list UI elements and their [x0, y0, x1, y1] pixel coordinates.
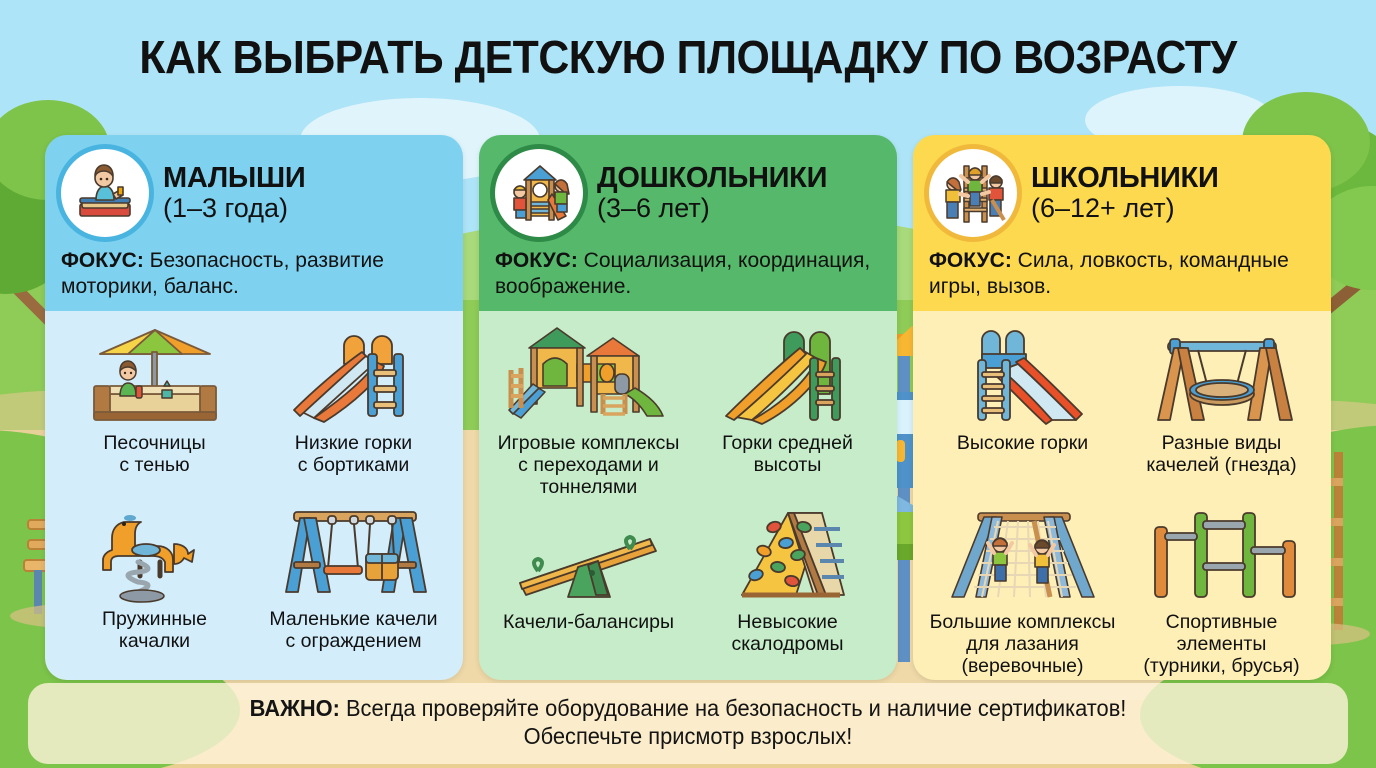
- pull-up-bars-icon: [1137, 502, 1307, 607]
- card-preschoolers-focus-label: ФОКУС:: [495, 249, 578, 272]
- low-slide-icon: [284, 323, 424, 428]
- item-pull-up-bars-caption: Спортивные элементы (турники, брусья): [1143, 611, 1299, 677]
- card-preschoolers-focus: ФОКУС: Социализация, координация, вообра…: [495, 248, 881, 299]
- important-note-banner: ВАЖНО: Всегда проверяйте оборудование на…: [28, 683, 1348, 764]
- card-schoolkids-focus-label: ФОКУС:: [929, 249, 1012, 272]
- schoolkids-on-ladder-icon: [929, 149, 1017, 237]
- card-toddlers[interactable]: МАЛЫШИ (1–3 года) ФОКУС: Безопасность, р…: [45, 135, 463, 680]
- card-schoolkids-header: ШКОЛЬНИКИ (6–12+ лет) ФОКУС: Сила, ловко…: [913, 135, 1331, 311]
- nest-swing-icon: [1142, 323, 1302, 428]
- item-climbing-wall[interactable]: Невысокие скалодромы: [688, 498, 887, 677]
- important-note-text: Всегда проверяйте оборудование на безопа…: [340, 695, 1126, 721]
- preschoolers-on-playhouse-icon: [495, 149, 583, 237]
- item-tall-slide[interactable]: Высокие горки: [923, 319, 1122, 498]
- item-baby-swing-set[interactable]: Маленькие качели с ограждением: [254, 495, 453, 670]
- card-preschoolers-items: Игровые комплексы с переходами и тоннеля…: [479, 311, 897, 680]
- item-tall-slide-caption: Высокие горки: [957, 432, 1088, 454]
- item-rope-climbing-net[interactable]: Большие комплексы для лазания (веревочны…: [923, 498, 1122, 677]
- item-nest-swing-caption: Разные виды качелей (гнезда): [1146, 432, 1296, 476]
- item-pull-up-bars[interactable]: Спортивные элементы (турники, брусья): [1122, 498, 1321, 677]
- item-sandbox-with-umbrella[interactable]: Песочницы с тенью: [55, 319, 254, 494]
- card-preschoolers[interactable]: ДОШКОЛЬНИКИ (3–6 лет) ФОКУС: Социализаци…: [479, 135, 897, 680]
- item-climbing-wall-caption: Невысокие скалодромы: [731, 611, 843, 655]
- seesaw-icon: [504, 502, 674, 607]
- toddler-in-sandbox-icon: [61, 149, 149, 237]
- item-seesaw[interactable]: Качели-балансиры: [489, 498, 688, 677]
- important-note-label: ВАЖНО:: [250, 695, 340, 721]
- important-note-line-1: ВАЖНО: Всегда проверяйте оборудование на…: [80, 694, 1296, 723]
- card-schoolkids-items: Высокие горки: [913, 311, 1331, 680]
- item-spring-rider-horse-caption: Пружинные качалки: [102, 608, 207, 652]
- age-group-cards: МАЛЫШИ (1–3 года) ФОКУС: Безопасность, р…: [0, 135, 1376, 680]
- item-low-slide[interactable]: Низкие горки с бортиками: [254, 319, 453, 494]
- climbing-wall-icon: [718, 502, 858, 607]
- card-toddlers-header: МАЛЫШИ (1–3 года) ФОКУС: Безопасность, р…: [45, 135, 463, 311]
- page-title: КАК ВЫБРАТЬ ДЕТСКУЮ ПЛОЩАДКУ ПО ВОЗРАСТУ: [48, 30, 1328, 84]
- item-play-complex-with-tunnel-caption: Игровые комплексы с переходами и тоннеля…: [498, 432, 680, 498]
- card-toddlers-focus-label: ФОКУС:: [61, 249, 144, 272]
- item-seesaw-caption: Качели-балансиры: [503, 611, 674, 633]
- item-rope-climbing-net-caption: Большие комплексы для лазания (веревочны…: [930, 611, 1116, 677]
- item-medium-slide[interactable]: Горки средней высоты: [688, 319, 887, 498]
- item-low-slide-caption: Низкие горки с бортиками: [295, 432, 412, 476]
- card-toddlers-items: Песочницы с тенью: [45, 311, 463, 680]
- tall-slide-icon: [948, 323, 1098, 428]
- card-toddlers-focus: ФОКУС: Безопасность, развитие моторики, …: [61, 248, 447, 299]
- card-schoolkids[interactable]: ШКОЛЬНИКИ (6–12+ лет) ФОКУС: Сила, ловко…: [913, 135, 1331, 680]
- page-title-bar: КАК ВЫБРАТЬ ДЕТСКУЮ ПЛОЩАДКУ ПО ВОЗРАСТУ: [0, 30, 1376, 84]
- card-toddlers-age-range: (1–3 года): [163, 194, 305, 223]
- card-preschoolers-header: ДОШКОЛЬНИКИ (3–6 лет) ФОКУС: Социализаци…: [479, 135, 897, 311]
- item-spring-rider-horse[interactable]: Пружинные качалки: [55, 495, 254, 670]
- baby-swing-set-icon: [274, 499, 434, 604]
- card-schoolkids-focus: ФОКУС: Сила, ловкость, командные игры, в…: [929, 248, 1315, 299]
- important-note-line-2: Обеспечьте присмотр взрослых!: [80, 722, 1296, 751]
- sandbox-with-umbrella-icon: [80, 323, 230, 428]
- item-sandbox-with-umbrella-caption: Песочницы с тенью: [103, 432, 205, 476]
- card-schoolkids-age-range: (6–12+ лет): [1031, 194, 1219, 223]
- card-schoolkids-age-group: ШКОЛЬНИКИ: [1031, 163, 1219, 194]
- item-baby-swing-set-caption: Маленькие качели с ограждением: [269, 608, 437, 652]
- spring-rider-horse-icon: [90, 499, 220, 604]
- item-medium-slide-caption: Горки средней высоты: [722, 432, 853, 476]
- card-toddlers-age-group: МАЛЫШИ: [163, 163, 305, 194]
- medium-slide-icon: [718, 323, 858, 428]
- card-preschoolers-age-range: (3–6 лет): [597, 194, 827, 223]
- rope-climbing-net-icon: [938, 502, 1108, 607]
- item-nest-swing[interactable]: Разные виды качелей (гнезда): [1122, 319, 1321, 498]
- play-complex-with-tunnel-icon: [499, 323, 679, 428]
- item-play-complex-with-tunnel[interactable]: Игровые комплексы с переходами и тоннеля…: [489, 319, 688, 498]
- card-preschoolers-age-group: ДОШКОЛЬНИКИ: [597, 163, 827, 194]
